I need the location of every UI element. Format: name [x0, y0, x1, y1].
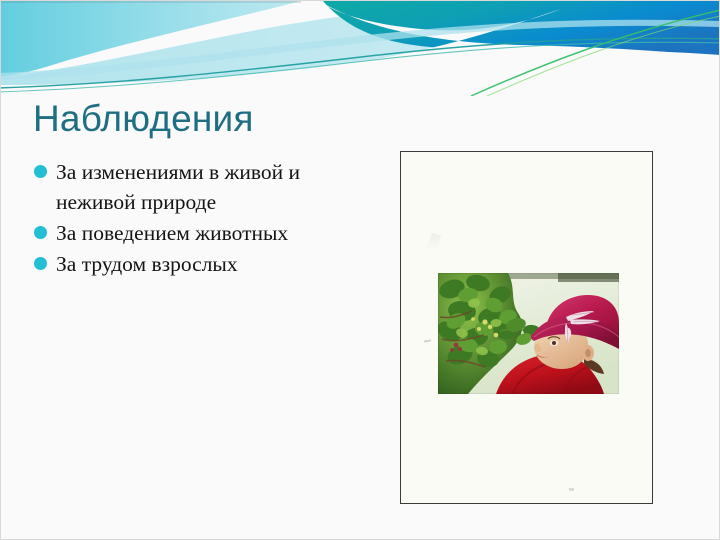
header-wave-decoration: [1, 1, 720, 96]
bullet-list: За изменениями в живой и неживой природе…: [34, 157, 352, 280]
presentation-slide: Наблюдения За изменениями в живой и нежи…: [0, 0, 720, 540]
bullet-dot-icon: [34, 226, 47, 239]
list-item: За трудом взрослых: [34, 249, 352, 279]
list-item: За поведением животных: [34, 218, 352, 248]
page-blemish: [569, 488, 574, 491]
bullet-text: За трудом взрослых: [56, 249, 352, 279]
photo-page-frame: [400, 151, 653, 504]
bullet-text: За изменениями в живой и неживой природе: [56, 157, 352, 217]
bullet-text: За поведением животных: [56, 218, 352, 248]
photograph-child-observing-plant: [438, 273, 619, 394]
page-blemish: [427, 233, 441, 251]
bullet-dot-icon: [34, 165, 47, 178]
bullet-dot-icon: [34, 257, 47, 270]
page-blemish: [424, 340, 431, 343]
slide-title: Наблюдения: [33, 97, 254, 141]
list-item: За изменениями в живой и неживой природе: [34, 157, 352, 217]
